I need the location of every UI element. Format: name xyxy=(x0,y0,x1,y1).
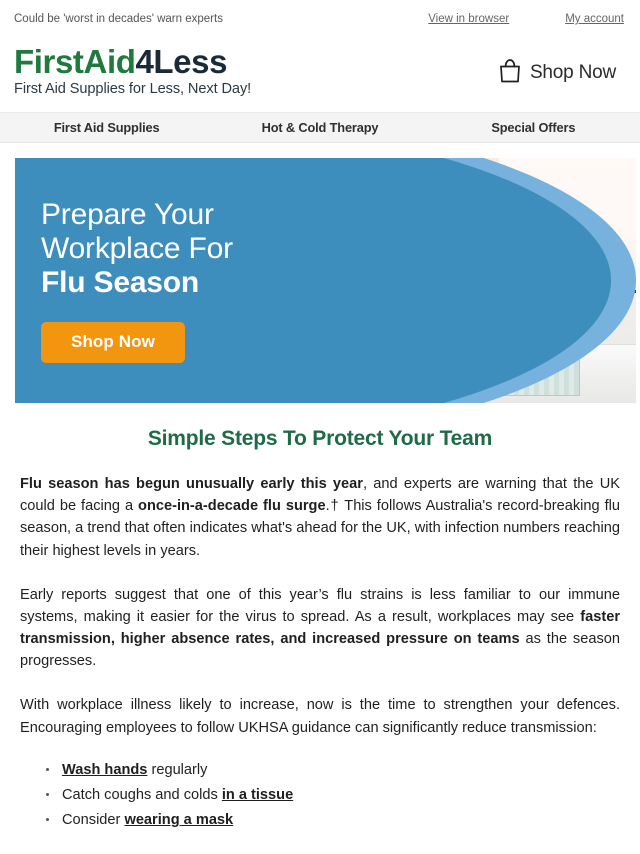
nav-item-special-offers[interactable]: Special Offers xyxy=(427,120,640,135)
para1-bold-2: once-in-a-decade flu surge xyxy=(138,498,326,514)
brand-wordmark-part2: 4Less xyxy=(135,43,227,80)
wearing-a-mask-link[interactable]: wearing a mask xyxy=(124,812,233,828)
article-body: Simple Steps To Protect Your Team Flu se… xyxy=(0,427,640,831)
hero-content: Prepare Your Workplace For Flu Season Sh… xyxy=(41,198,341,363)
main-navigation: First Aid Supplies Hot & Cold Therapy Sp… xyxy=(0,112,640,143)
list-item: Wash hands regularly xyxy=(46,759,620,781)
site-header: FirstAid4Less First Aid Supplies for Les… xyxy=(0,38,640,112)
view-in-browser-link[interactable]: View in browser xyxy=(428,13,509,25)
article-paragraph-3: With workplace illness likely to increas… xyxy=(20,694,620,738)
brand-wordmark-part1: FirstAid xyxy=(14,43,135,80)
bullet-3-text: Consider xyxy=(62,812,124,828)
preheader-teaser-text: Could be 'worst in decades' warn experts xyxy=(14,13,223,25)
preheader-links: View in browser My account xyxy=(428,13,626,25)
article-paragraph-1: Flu season has begun unusually early thi… xyxy=(20,473,620,562)
my-account-link[interactable]: My account xyxy=(565,13,624,25)
para2-lead: Early reports suggest that one of this y… xyxy=(20,587,620,625)
nav-item-hot-cold-therapy[interactable]: Hot & Cold Therapy xyxy=(213,120,426,135)
brand-logo[interactable]: FirstAid4Less First Aid Supplies for Les… xyxy=(14,45,251,97)
bullet-1-text: regularly xyxy=(147,762,207,778)
bullet-2-text: Catch coughs and colds xyxy=(62,787,222,803)
hero-headline-line2: Workplace For xyxy=(41,232,341,266)
in-a-tissue-link[interactable]: in a tissue xyxy=(222,787,293,803)
nav-item-first-aid-supplies[interactable]: First Aid Supplies xyxy=(0,120,213,135)
list-item: Consider wearing a mask xyxy=(46,809,620,831)
hero-headline-line3: Flu Season xyxy=(41,266,341,300)
hero-shop-now-button[interactable]: Shop Now xyxy=(41,322,185,363)
hero-banner[interactable]: Prepare Your Workplace For Flu Season Sh… xyxy=(15,158,636,403)
guidance-bullet-list: Wash hands regularly Catch coughs and co… xyxy=(20,759,620,832)
brand-tagline: First Aid Supplies for Less, Next Day! xyxy=(14,81,251,97)
brand-wordmark: FirstAid4Less xyxy=(14,45,251,79)
article-paragraph-2: Early reports suggest that one of this y… xyxy=(20,584,620,673)
hero-headline-line1: Prepare Your xyxy=(41,198,341,232)
shopping-bag-icon xyxy=(497,57,523,89)
para1-bold-1: Flu season has begun unusually early thi… xyxy=(20,476,363,492)
preheader-bar: Could be 'worst in decades' warn experts… xyxy=(0,0,640,38)
header-shop-now-button[interactable]: Shop Now xyxy=(497,57,626,89)
article-heading: Simple Steps To Protect Your Team xyxy=(20,427,620,451)
wash-hands-link[interactable]: Wash hands xyxy=(62,762,147,778)
header-shop-now-label: Shop Now xyxy=(530,62,616,84)
list-item: Catch coughs and colds in a tissue xyxy=(46,784,620,806)
